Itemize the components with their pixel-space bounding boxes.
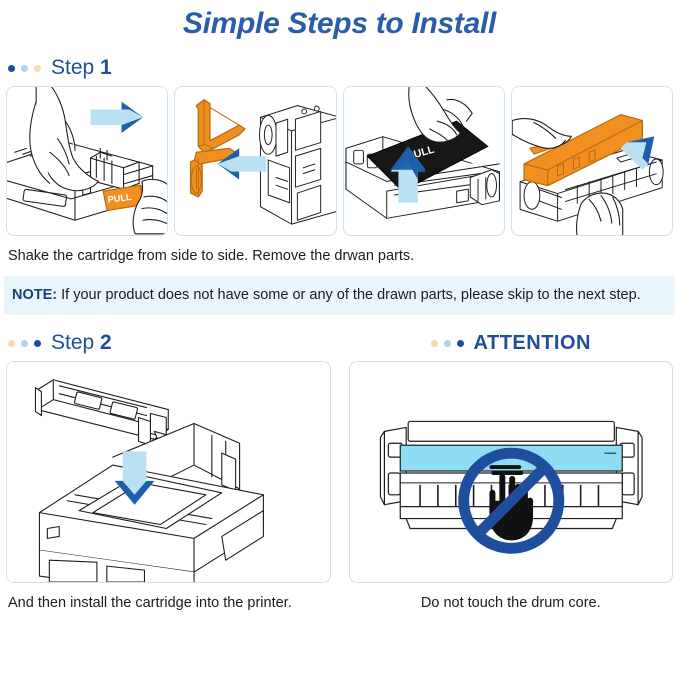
- panel-remove-orange-clips: [174, 86, 336, 236]
- note-box: NOTE: If your product does not have some…: [4, 276, 675, 315]
- attention-label: ATTENTION: [474, 331, 591, 355]
- step1-panel-row: PULL: [0, 86, 679, 236]
- dot-light-blue: [21, 65, 28, 72]
- attention-dots: [431, 340, 464, 347]
- step2-heading: Step 2: [8, 331, 331, 355]
- step1-label-number: 1: [100, 56, 112, 79]
- panel-do-not-touch-drum: [349, 361, 674, 583]
- arrow-right: [91, 102, 143, 133]
- panel-remove-black-cover: PULL: [343, 86, 505, 236]
- dot-light-blue: [444, 340, 451, 347]
- step1-label: Step 1: [51, 56, 112, 80]
- dot-tan: [431, 340, 438, 347]
- orange-clip-lower: [191, 148, 236, 197]
- step2-label: Step 2: [51, 331, 112, 355]
- panel-shake-pull-tab: PULL: [6, 86, 168, 236]
- step2-label-prefix: Step: [51, 331, 100, 354]
- dot-tan: [8, 340, 15, 347]
- step2-label-number: 2: [100, 331, 112, 354]
- dot-dark-blue: [8, 65, 15, 72]
- dot-tan: [34, 65, 41, 72]
- note-label: NOTE:: [12, 287, 57, 303]
- dot-dark-blue: [34, 340, 41, 347]
- panel-remove-orange-drum-cover: [511, 86, 673, 236]
- dot-light-blue: [21, 340, 28, 347]
- step2-dots: [8, 340, 41, 347]
- bottom-section: Step 2: [0, 317, 679, 613]
- attention-heading: ATTENTION: [349, 331, 674, 355]
- step1-heading: Step 1: [8, 56, 679, 80]
- attention-column: ATTENTION: [349, 317, 674, 613]
- step1-dots: [8, 65, 41, 72]
- step2-caption: And then install the cartridge into the …: [8, 593, 329, 613]
- panel-install-cartridge: [6, 361, 331, 583]
- dot-dark-blue: [457, 340, 464, 347]
- step1-label-prefix: Step: [51, 56, 100, 79]
- step2-column: Step 2: [6, 317, 331, 613]
- note-text: If your product does not have some or an…: [57, 287, 641, 303]
- page-title: Simple Steps to Install: [0, 6, 679, 42]
- orange-clip-upper: [197, 100, 246, 152]
- step1-caption: Shake the cartridge from side to side. R…: [8, 246, 671, 266]
- attention-caption: Do not touch the drum core.: [351, 593, 672, 613]
